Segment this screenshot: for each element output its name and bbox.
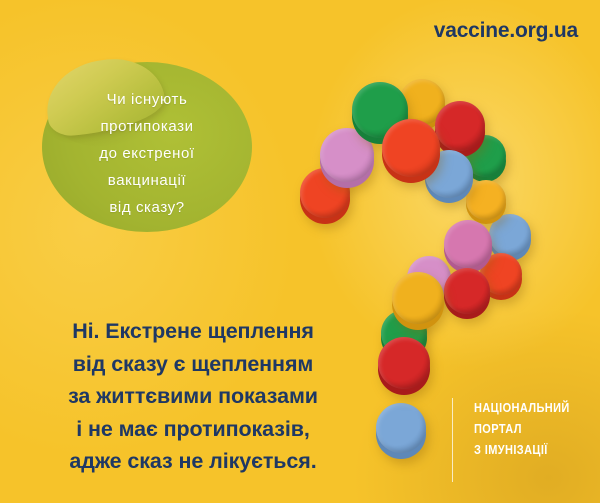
- cap-pink-left-top: [320, 128, 374, 182]
- cap-green-tail: [381, 310, 427, 366]
- cap-red-tail: [378, 337, 430, 400]
- poster: vaccine.org.ua Чи існують протипокази до…: [0, 0, 600, 503]
- cap-pink-mid-side: [444, 225, 492, 273]
- question-text: Чи існують протипокази до екстреної вакц…: [42, 86, 252, 221]
- cap-yellow-top-top: [399, 79, 445, 125]
- cap-green-tail-top: [381, 310, 427, 356]
- cap-red-lower-side: [444, 273, 490, 319]
- cap-blue-dot-top: [376, 403, 426, 453]
- cap-yellow-top: [399, 79, 445, 135]
- cap-red-right-side: [480, 258, 522, 300]
- cap-red-topright: [435, 101, 485, 162]
- cap-yellow-top-side: [399, 84, 445, 130]
- cap-pink-lower-side: [407, 261, 451, 305]
- cap-red-lower: [444, 268, 490, 324]
- cap-orange-center-side: [382, 125, 440, 183]
- cap-blue-right: [489, 214, 531, 265]
- cap-pink-lower: [407, 256, 451, 310]
- logo-text: НАЦІОНАЛЬНИЙ ПОРТАЛ З ІМУНІЗАЦІЇ: [474, 398, 570, 461]
- cap-blue-center-side: [425, 155, 473, 203]
- cap-orange-far-left-top: [300, 168, 350, 218]
- cap-blue-dot-side: [376, 409, 426, 459]
- cap-orange-far-left: [300, 168, 350, 229]
- cap-pink-lower-top: [407, 256, 451, 300]
- cap-blue-right-top: [489, 214, 531, 256]
- cap-pink-left: [320, 128, 374, 194]
- cap-green-top-side: [352, 88, 408, 144]
- cap-red-right-top: [480, 253, 522, 295]
- cap-pink-mid-top: [444, 220, 492, 268]
- cap-pink-mid: [444, 220, 492, 279]
- cap-red-topright-side: [435, 107, 485, 157]
- cap-yellow-tail: [392, 272, 444, 335]
- cap-green-right-side: [464, 140, 506, 182]
- cap-orange-center: [382, 119, 440, 190]
- cap-blue-center: [425, 150, 473, 209]
- cap-yellow-right-side: [466, 184, 506, 224]
- cap-yellow-tail-top: [392, 272, 444, 324]
- cap-red-lower-top: [444, 268, 490, 314]
- logo-divider: [452, 398, 453, 482]
- cap-green-right-top: [464, 135, 506, 177]
- cap-yellow-tail-side: [392, 278, 444, 330]
- cap-yellow-right: [466, 180, 506, 229]
- cap-green-top-top: [352, 82, 408, 138]
- cap-pink-left-side: [320, 134, 374, 188]
- question-sticker: Чи існують протипокази до екстреної вакц…: [42, 62, 252, 232]
- logo: НАЦІОНАЛЬНИЙ ПОРТАЛ З ІМУНІЗАЦІЇ: [452, 398, 583, 482]
- cap-orange-far-left-side: [300, 174, 350, 224]
- cap-green-tail-side: [381, 315, 427, 361]
- site-url[interactable]: vaccine.org.ua: [434, 19, 578, 43]
- cap-orange-center-top: [382, 119, 440, 177]
- cap-red-tail-top: [378, 337, 430, 389]
- cap-yellow-right-top: [466, 180, 506, 220]
- cap-blue-center-top: [425, 150, 473, 198]
- cap-red-right: [480, 253, 522, 304]
- cap-blue-right-side: [489, 219, 531, 261]
- answer-text: Ні. Екстрене щеплення від сказу є щеплен…: [8, 315, 378, 478]
- cap-green-right: [464, 135, 506, 186]
- cap-red-topright-top: [435, 101, 485, 151]
- cap-red-tail-side: [378, 343, 430, 395]
- cap-blue-dot: [376, 403, 426, 464]
- cap-green-top: [352, 82, 408, 150]
